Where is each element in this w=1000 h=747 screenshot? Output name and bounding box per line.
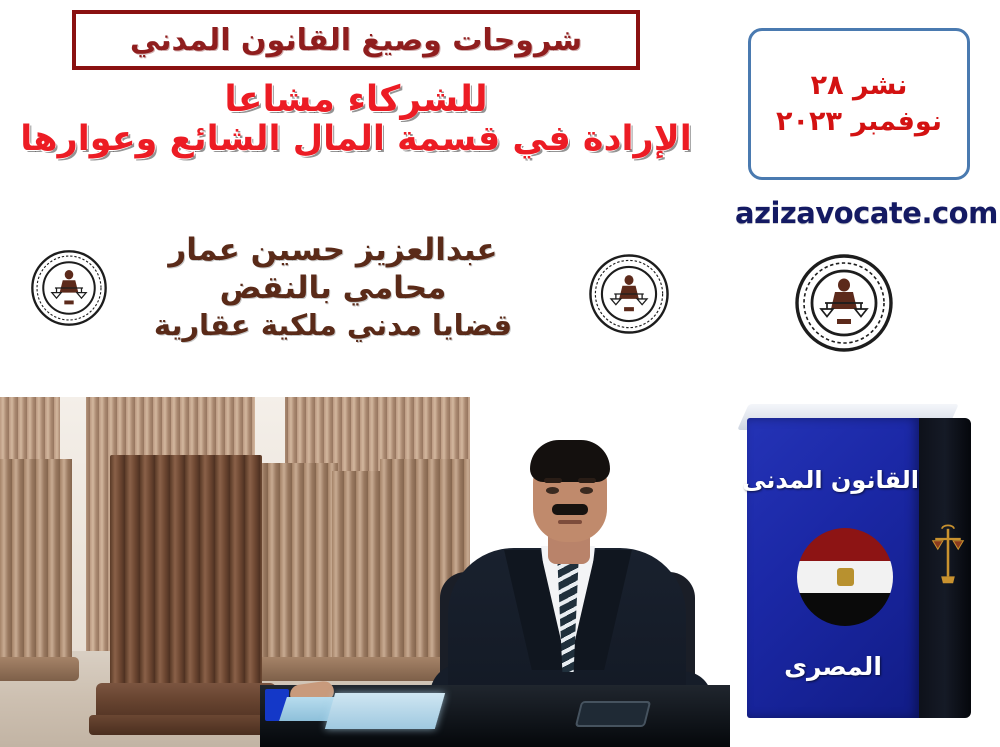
scales-of-justice-seal-icon-middle — [588, 252, 670, 336]
book-cover: القانون المدنى المصرى — [747, 418, 919, 718]
civil-code-book-image: القانون المدنى المصرى — [735, 402, 980, 732]
headline-block: للشركاء مشاعا الإرادة في قسمة المال الشا… — [0, 80, 712, 160]
lawyer-specialty: قضايا مدني ملكية عقارية — [118, 308, 548, 343]
egypt-flag-icon — [797, 528, 893, 626]
book-subtitle-text: المصرى — [747, 652, 919, 681]
scales-of-justice-seal-icon-large — [794, 252, 894, 354]
book-title-text: القانون المدنى — [747, 466, 919, 494]
header-title-text: شروحات وصيغ القانون المدني — [130, 23, 582, 58]
lawyer-name-block: عبدالعزيز حسين عمار محامي بالنقض قضايا م… — [118, 232, 548, 343]
desk-smartphone — [575, 701, 651, 727]
website-url[interactable]: azizavocate.com — [735, 196, 985, 230]
lawyer-role: محامي بالنقض — [118, 270, 548, 308]
headline-line-2: الإرادة في قسمة المال الشائع وعوارها — [0, 120, 712, 159]
poster-canvas: شروحات وصيغ القانون المدني نشر ٢٨ نوفمبر… — [0, 0, 1000, 747]
publish-date-line-2: نوفمبر ٢٠٢٣ — [776, 105, 942, 139]
header-title-box: شروحات وصيغ القانون المدني — [72, 10, 640, 70]
headline-line-1: للشركاء مشاعا — [0, 80, 712, 120]
photo-band: القانون المدنى المصرى — [0, 397, 1000, 747]
scales-of-justice-icon — [931, 522, 965, 592]
egypt-eagle-icon — [837, 568, 854, 586]
lawyer-name: عبدالعزيز حسين عمار — [118, 232, 548, 270]
publish-date-box: نشر ٢٨ نوفمبر ٢٠٢٣ — [748, 28, 970, 180]
scales-of-justice-seal-icon — [30, 248, 108, 328]
publish-date-line-1: نشر ٢٨ — [811, 69, 908, 103]
desk-documents — [325, 693, 445, 729]
